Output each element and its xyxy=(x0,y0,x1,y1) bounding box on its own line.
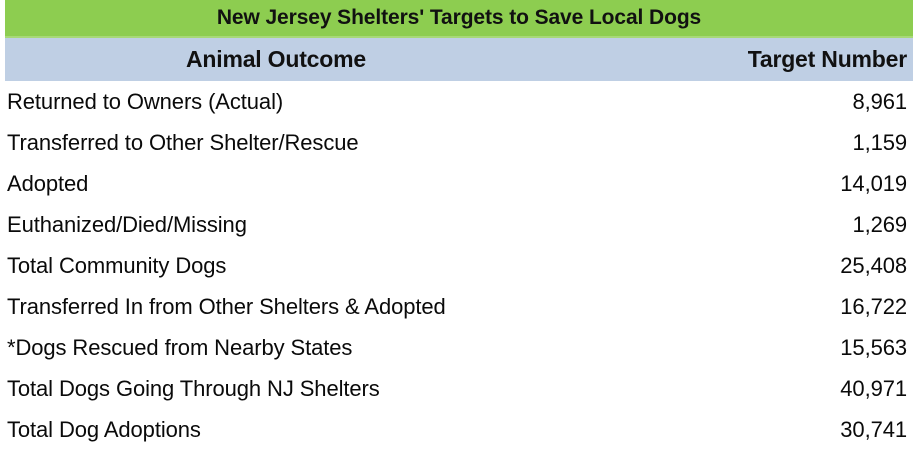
shelter-targets-table: New Jersey Shelters' Targets to Save Loc… xyxy=(5,0,913,450)
cell-number: 16,722 xyxy=(665,286,913,327)
cell-number: 14,019 xyxy=(665,163,913,204)
cell-number: 1,159 xyxy=(665,122,913,163)
table-row: Total Dog Adoptions 30,741 xyxy=(5,409,913,450)
cell-number: 1,269 xyxy=(665,204,913,245)
column-header-animal-outcome: Animal Outcome xyxy=(5,37,665,81)
cell-outcome: Total Community Dogs xyxy=(5,245,665,286)
cell-outcome: *Dogs Rescued from Nearby States xyxy=(5,327,665,368)
cell-outcome: Total Dog Adoptions xyxy=(5,409,665,450)
targets-table-container: New Jersey Shelters' Targets to Save Loc… xyxy=(0,0,924,448)
table-row: Euthanized/Died/Missing 1,269 xyxy=(5,204,913,245)
cell-outcome: Transferred In from Other Shelters & Ado… xyxy=(5,286,665,327)
cell-outcome: Total Dogs Going Through NJ Shelters xyxy=(5,368,665,409)
table-row: Returned to Owners (Actual) 8,961 xyxy=(5,81,913,122)
cell-outcome: Returned to Owners (Actual) xyxy=(5,81,665,122)
cell-number: 8,961 xyxy=(665,81,913,122)
table-body: New Jersey Shelters' Targets to Save Loc… xyxy=(5,0,913,450)
cell-outcome: Transferred to Other Shelter/Rescue xyxy=(5,122,665,163)
cell-number: 25,408 xyxy=(665,245,913,286)
table-title-row: New Jersey Shelters' Targets to Save Loc… xyxy=(5,0,913,37)
cell-outcome: Euthanized/Died/Missing xyxy=(5,204,665,245)
table-row: Transferred to Other Shelter/Rescue 1,15… xyxy=(5,122,913,163)
table-row: Total Dogs Going Through NJ Shelters 40,… xyxy=(5,368,913,409)
table-title: New Jersey Shelters' Targets to Save Loc… xyxy=(5,0,913,37)
table-header-row: Animal Outcome Target Number xyxy=(5,37,913,81)
table-row: Adopted 14,019 xyxy=(5,163,913,204)
table-row: *Dogs Rescued from Nearby States 15,563 xyxy=(5,327,913,368)
column-header-target-number: Target Number xyxy=(665,37,913,81)
table-row: Total Community Dogs 25,408 xyxy=(5,245,913,286)
cell-outcome: Adopted xyxy=(5,163,665,204)
cell-number: 15,563 xyxy=(665,327,913,368)
table-row: Transferred In from Other Shelters & Ado… xyxy=(5,286,913,327)
cell-number: 30,741 xyxy=(665,409,913,450)
cell-number: 40,971 xyxy=(665,368,913,409)
